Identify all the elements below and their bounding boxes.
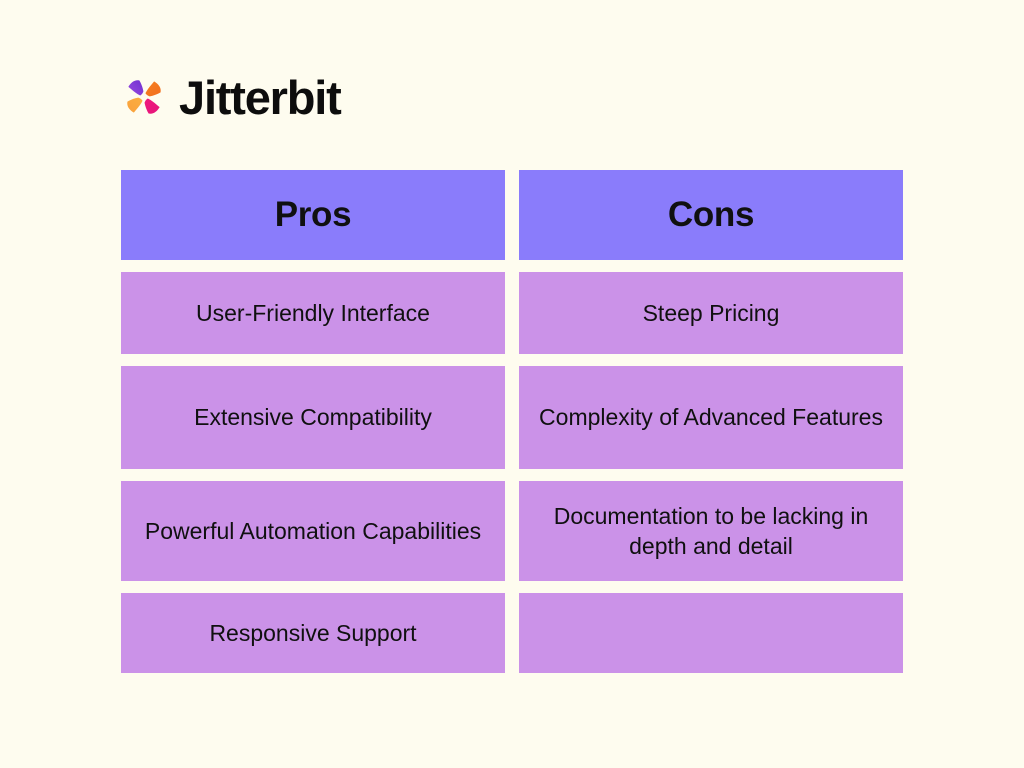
brand-logo: Jitterbit (121, 66, 341, 128)
sparkle-star-icon (121, 74, 167, 120)
pros-cons-table: Pros Cons User-Friendly Interface Steep … (121, 170, 903, 673)
table-cell-pros-3: Powerful Automation Capabilities (121, 481, 505, 581)
table-cell-cons-1: Steep Pricing (519, 272, 903, 354)
table-cell-cons-4 (519, 593, 903, 673)
table-cell-pros-2: Extensive Compatibility (121, 366, 505, 469)
table-cell-cons-3: Documentation to be lacking in depth and… (519, 481, 903, 581)
column-header-cons: Cons (519, 170, 903, 260)
column-header-pros: Pros (121, 170, 505, 260)
page-canvas: Jitterbit Pros Cons User-Friendly Interf… (0, 0, 1024, 768)
table-cell-pros-4: Responsive Support (121, 593, 505, 673)
table-cell-pros-1: User-Friendly Interface (121, 272, 505, 354)
brand-name: Jitterbit (179, 74, 341, 121)
table-cell-cons-2: Complexity of Advanced Features (519, 366, 903, 469)
